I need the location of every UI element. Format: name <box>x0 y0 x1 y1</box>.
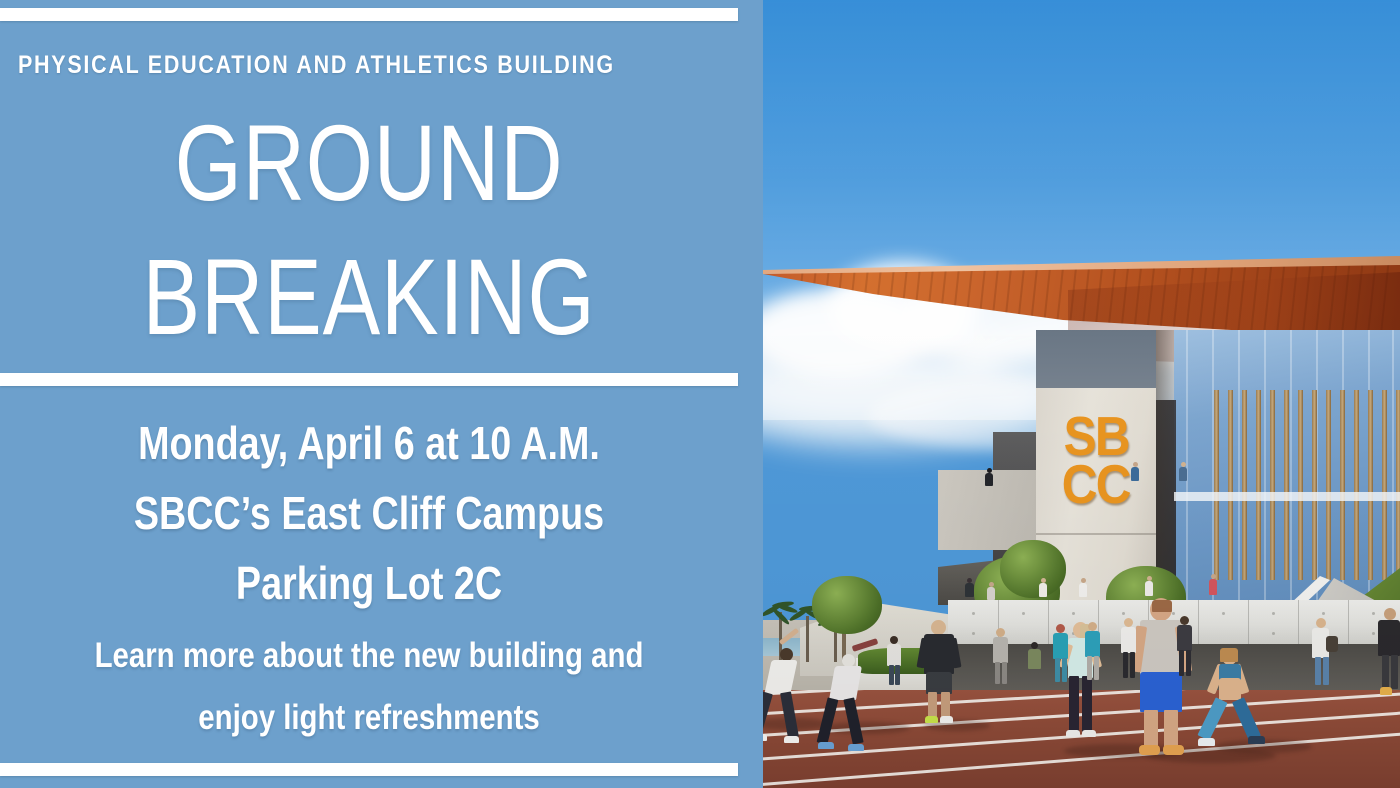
event-location-campus: SBCC’s East Cliff Campus <box>66 478 671 548</box>
headline-line-1: GROUND <box>74 96 664 230</box>
note-line-1: Learn more about the new building and <box>59 625 679 687</box>
divider-rule-bottom <box>0 763 738 776</box>
poster-kicker: PHYSICAL EDUCATION AND ATHLETICS BUILDIN… <box>18 50 615 80</box>
headline-line-2: BREAKING <box>74 230 664 364</box>
facade-sun-fins <box>1210 390 1400 580</box>
building-rendering-image: SB CC <box>763 0 1400 788</box>
left-info-panel: PHYSICAL EDUCATION AND ATHLETICS BUILDIN… <box>0 0 763 788</box>
tree-canopy <box>1000 540 1066 598</box>
event-poster: SB CC <box>0 0 1400 788</box>
pillar-joint-line <box>1036 533 1156 535</box>
event-note: Learn more about the new building and en… <box>0 625 738 749</box>
divider-rule-top <box>0 8 738 21</box>
poster-headline: GROUND BREAKING <box>0 96 738 364</box>
event-datetime: Monday, April 6 at 10 A.M. <box>66 408 671 478</box>
pillar-upper-band <box>1036 330 1156 388</box>
event-details: Monday, April 6 at 10 A.M. SBCC’s East C… <box>0 408 738 618</box>
event-location-lot: Parking Lot 2C <box>66 548 671 618</box>
note-line-2: enjoy light refreshments <box>59 687 679 749</box>
tree-canopy <box>812 576 882 634</box>
balcony-rail <box>1174 492 1400 501</box>
divider-rule-middle <box>0 373 738 386</box>
